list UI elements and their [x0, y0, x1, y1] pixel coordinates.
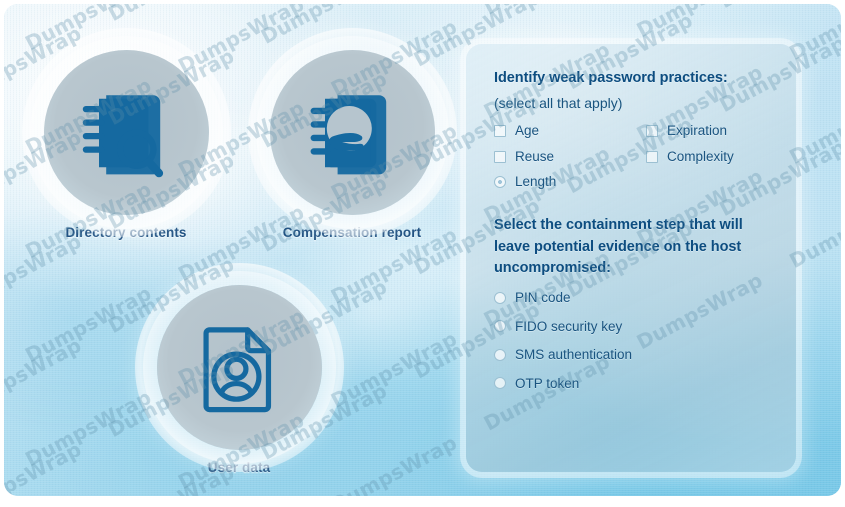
- radio-icon[interactable]: [494, 292, 506, 304]
- checkbox-label: Expiration: [667, 124, 727, 138]
- drag-item-compensation-report[interactable]: Compensation report: [262, 50, 442, 240]
- radio-option-otp-token[interactable]: OTP token: [494, 377, 774, 391]
- checkbox-icon[interactable]: [494, 151, 506, 163]
- radio-label: OTP token: [515, 377, 579, 391]
- checkbox-option-length[interactable]: Length: [494, 175, 646, 189]
- drag-item-user-data[interactable]: User data: [149, 285, 329, 475]
- question-panel: Identify weak password practices: (selec…: [466, 44, 796, 472]
- radio-label: FIDO security key: [515, 320, 622, 334]
- document-person-icon: [157, 285, 322, 450]
- radio-icon[interactable]: [494, 320, 506, 332]
- grid-spacer: [646, 175, 774, 189]
- checkbox-label: Age: [515, 124, 539, 138]
- radio-label: PIN code: [515, 291, 571, 305]
- checkbox-label: Length: [515, 175, 556, 189]
- notebook-magnifier-icon: [44, 50, 209, 215]
- checkbox-icon[interactable]: [494, 176, 506, 188]
- checkbox-icon[interactable]: [646, 125, 658, 137]
- exam-board: Directory contents: [4, 4, 841, 496]
- checkbox-icon[interactable]: [646, 151, 658, 163]
- checkbox-label: Complexity: [667, 150, 734, 164]
- checkbox-option-age[interactable]: Age: [494, 124, 646, 138]
- radio-option-fido-security-key[interactable]: FIDO security key: [494, 320, 774, 334]
- radio-icon[interactable]: [494, 377, 506, 389]
- checkbox-icon[interactable]: [494, 125, 506, 137]
- radio-option-sms-authentication[interactable]: SMS authentication: [494, 348, 774, 362]
- drag-item-directory-contents[interactable]: Directory contents: [36, 50, 216, 240]
- checkbox-option-complexity[interactable]: Complexity: [646, 150, 774, 164]
- question2-title: Select the containment step that will le…: [494, 215, 774, 280]
- radio-option-pin-code[interactable]: PIN code: [494, 291, 774, 305]
- question1-subtitle: (select all that apply): [494, 94, 774, 113]
- question1-title: Identify weak password practices:: [494, 68, 774, 89]
- notebook-hand-icon: [270, 50, 435, 215]
- radio-label: SMS authentication: [515, 348, 632, 362]
- checkbox-option-expiration[interactable]: Expiration: [646, 124, 774, 138]
- question2-options: PIN code FIDO security key SMS authentic…: [494, 291, 774, 390]
- screenshot-canvas: Directory contents: [0, 0, 845, 507]
- checkbox-label: Reuse: [515, 150, 554, 164]
- radio-icon[interactable]: [494, 349, 506, 361]
- question1-options: Age Expiration Reuse Complexity Length: [494, 124, 774, 189]
- checkbox-option-reuse[interactable]: Reuse: [494, 150, 646, 164]
